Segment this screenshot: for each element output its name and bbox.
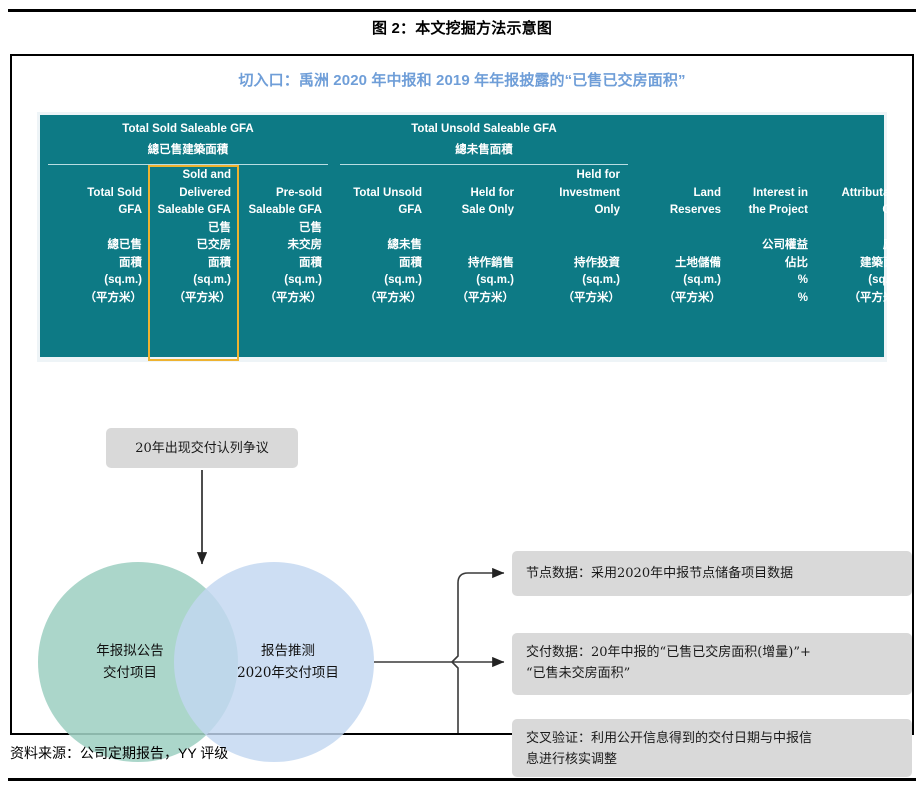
group-rule-left [48,164,328,165]
col-en-2: Delivered [150,185,231,203]
col-unit-zh: （平方米） [336,290,422,308]
col-en-2: Saleable GFA [240,202,322,220]
col-zh-2: 佔比 [730,255,808,273]
col-zh-1: 應屬 [818,237,906,255]
venn-label-right-line2: 2020年交付项目 [208,662,368,684]
col-unit-en: (sq.m.) [240,272,322,290]
col-zh-1: 已售 [150,220,231,238]
gfa-table: Total Sold Saleable GFA 總已售建築面積 Total Un… [37,112,887,362]
figure-frame: 切入口：禹洲 2020 年中报和 2019 年年报披露的“已售已交房面积” To… [10,54,914,735]
col-en-2: GFA [818,202,906,220]
group-label-zh: 總未售面積 [340,140,628,161]
col-en-1: Sold and [150,167,231,185]
table-group-total-unsold: Total Unsold Saleable GFA 總未售面積 [340,119,628,161]
col-unit-en: % [730,272,808,290]
col-zh-1: 持作投資 [524,255,620,273]
col-en-1: Attributable [818,185,906,203]
col-unit-zh: （平方米） [818,290,906,308]
col-zh-2: 已交房 [150,237,231,255]
table-column-sold-and-delivered-saleable-gfa: Sold and Delivered Saleable GFA 已售 已交房 面… [150,167,237,359]
group-label-zh: 總已售建築面積 [48,140,328,161]
col-zh-1: 公司權益 [730,237,808,255]
table-column-held-for-sale-only: Held for Sale Only 持作銷售 (sq.m.) （平方米） [432,167,520,359]
col-unit-en: (sq.m.) [818,272,906,290]
arrow-branch-top [452,573,504,662]
table-column-held-for-investment-only: Held for Investment Only 持作投資 (sq.m.) （平… [524,167,626,359]
col-en-2: the Project [730,202,808,220]
col-unit-en: (sq.m.) [150,272,231,290]
col-unit-zh: （平方米） [150,290,231,308]
col-unit-en: (sq.m.) [632,272,721,290]
venn-label-left-line2: 交付项目 [60,662,200,684]
output-delivery-line2: “已售未交房面积” [526,663,898,684]
venn-label-right-line1: 报告推测 [208,640,368,662]
figure-title: 图 2：本文挖掘方法示意图 [0,18,924,40]
col-unit-en: (sq.m.) [336,272,422,290]
col-unit-zh: （平方米） [240,290,322,308]
venn-label-right: 报告推测 2020年交付项目 [208,640,368,684]
output-box-node-data: 节点数据：采用2020年中报节点储备项目数据 [512,551,912,596]
venn-label-left: 年报拟公告 交付项目 [60,640,200,684]
table-column-total-unsold-gfa: Total Unsold GFA 總未售 面積 (sq.m.) （平方米） [336,167,428,359]
table-column-total-sold-gfa: Total Sold GFA 總已售 面積 (sq.m.) （平方米） [54,167,148,359]
col-zh-3: 面積 [150,255,231,273]
col-unit-zh: （平方米） [524,290,620,308]
col-en-1: Total Sold [54,185,142,203]
col-zh-2: 未交房 [240,237,322,255]
output-node-text: 节点数据：采用2020年中报节点储备项目数据 [526,563,912,584]
col-zh-2: 建築面積 [818,255,906,273]
group-rule-right [340,164,628,165]
note-delivery-dispute: 20年出现交付认列争议 [106,428,298,468]
method-diagram: 年报拟公告 交付项目 报告推测 2020年交付项目 [12,368,912,733]
arrow-branch-bottom [452,662,504,733]
col-en-2: Reserves [632,202,721,220]
col-zh-3: 面積 [240,255,322,273]
col-en-2: Investment [524,185,620,203]
col-zh-1: 土地儲備 [632,255,721,273]
col-unit-zh: （平方米） [432,290,514,308]
col-en-1: Held for [524,167,620,185]
col-zh-1: 持作銷售 [432,255,514,273]
col-unit-en: (sq.m.) [524,272,620,290]
col-unit-zh: （平方米） [54,290,142,308]
table-column-land-reserves: Land Reserves 土地儲備 (sq.m.) （平方米） [632,167,727,359]
col-en-2: Sale Only [432,202,514,220]
col-zh-2: 面積 [54,255,142,273]
group-label-en: Total Sold Saleable GFA [48,119,328,140]
table-column-interest-in-the-project: Interest in the Project 公司權益 佔比 % % [730,167,814,359]
col-en-1: Held for [432,185,514,203]
col-en-3: Saleable GFA [150,202,231,220]
source-note: 资料来源：公司定期报告，YY 评级 [10,742,914,764]
col-en-2: GFA [54,202,142,220]
group-label-en: Total Unsold Saleable GFA [340,119,628,140]
table-column-attributable-gfa: Attributable GFA 應屬 建築面積 (sq.m.) （平方米） [818,167,912,359]
col-zh-1: 已售 [240,220,322,238]
col-zh-2: 面積 [336,255,422,273]
col-unit-zh: （平方米） [632,290,721,308]
output-box-delivery-data: 交付数据：20年中报的“已售已交房面积(增量)”+ “已售未交房面积” [512,633,912,695]
table-column-pre-sold-saleable-gfa: Pre-sold Saleable GFA 已售 未交房 面積 (sq.m.) … [240,167,328,359]
col-zh-1: 總未售 [336,237,422,255]
figure-page: 图 2：本文挖掘方法示意图 切入口：禹洲 2020 年中报和 2019 年年报披… [0,0,924,807]
col-en-1: Interest in [730,185,808,203]
col-en-2: GFA [336,202,422,220]
col-en-1: Pre-sold [240,185,322,203]
top-divider [8,9,916,12]
col-unit-zh: % [730,290,808,308]
col-en-3: Only [524,202,620,220]
col-zh-1: 總已售 [54,237,142,255]
output-delivery-line1: 交付数据：20年中报的“已售已交房面积(增量)”+ [526,642,898,663]
table-group-total-sold: Total Sold Saleable GFA 總已售建築面積 [48,119,328,161]
bottom-divider [8,778,916,781]
col-unit-en: (sq.m.) [54,272,142,290]
col-unit-en: (sq.m.) [432,272,514,290]
figure-caption: 切入口：禹洲 2020 年中报和 2019 年年报披露的“已售已交房面积” [12,70,912,92]
venn-label-left-line1: 年报拟公告 [60,640,200,662]
col-en-1: Total Unsold [336,185,422,203]
col-en-1: Land [632,185,721,203]
